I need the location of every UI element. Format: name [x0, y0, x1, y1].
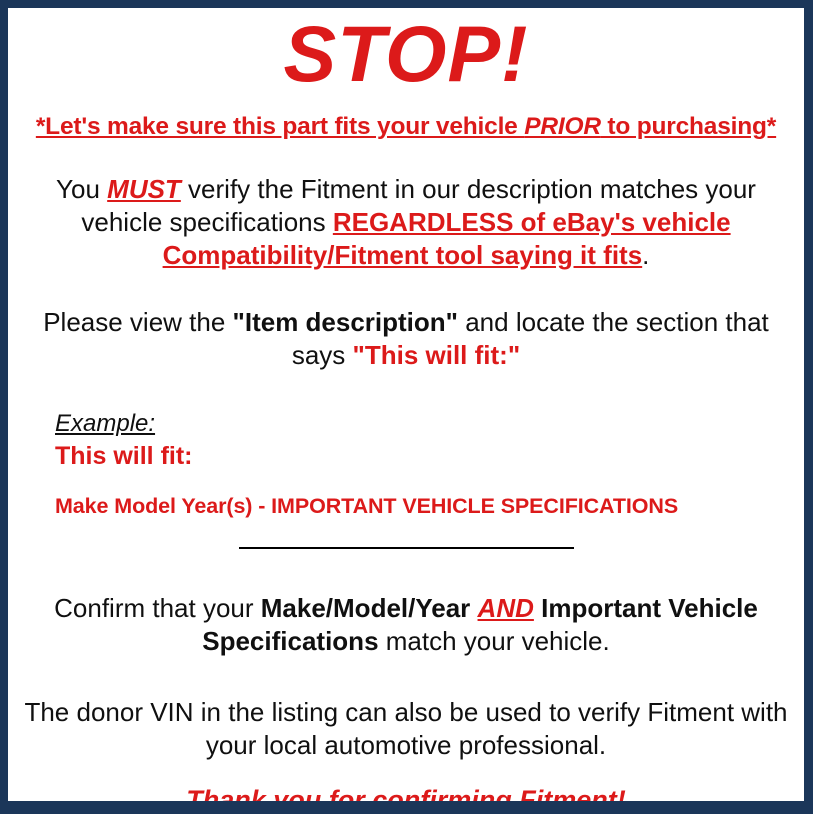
confirm-seg-1: Confirm that your: [54, 593, 261, 623]
view-seg-1: Please view the: [43, 307, 232, 337]
paragraph-donor-vin: The donor VIN in the listing can also be…: [8, 696, 804, 762]
this-will-fit-emphasis: "This will fit:": [353, 340, 521, 370]
thank-you-line: Thank you for confirming Fitment!: [8, 784, 804, 814]
must-seg-3: .: [642, 240, 649, 270]
notice-content: STOP! *Let's make sure this part fits yo…: [8, 8, 804, 801]
and-emphasis: AND: [478, 593, 534, 623]
horizontal-divider: [239, 547, 574, 549]
subtitle-emphasis-prior: PRIOR: [524, 113, 601, 140]
subtitle-text-before: *Let's make sure this part fits your veh…: [36, 113, 524, 140]
must-emphasis: MUST: [107, 174, 181, 204]
example-label: Example:: [55, 409, 804, 439]
make-model-year-emphasis: Make/Model/Year: [261, 593, 471, 623]
subtitle-line: *Let's make sure this part fits your veh…: [8, 113, 804, 141]
confirm-seg-4: match your vehicle.: [379, 626, 610, 656]
confirm-seg-2: [470, 593, 477, 623]
example-this-will-fit: This will fit:: [55, 440, 804, 473]
paragraph-must-verify: You MUST verify the Fitment in our descr…: [8, 173, 804, 272]
paragraph-item-description: Please view the "Item description" and l…: [8, 306, 804, 372]
item-description-emphasis: "Item description": [233, 307, 458, 337]
must-seg-1: You: [56, 174, 107, 204]
subtitle-text-after: to purchasing*: [601, 113, 776, 140]
divider-wrapper: [8, 539, 804, 557]
fitment-notice-card: STOP! *Let's make sure this part fits yo…: [0, 0, 813, 814]
example-block: Example: This will fit: Make Model Year(…: [8, 409, 804, 520]
stop-heading: STOP!: [8, 8, 804, 95]
paragraph-confirm: Confirm that your Make/Model/Year AND Im…: [8, 592, 804, 658]
example-spec-line: Make Model Year(s) - IMPORTANT VEHICLE S…: [55, 494, 804, 519]
